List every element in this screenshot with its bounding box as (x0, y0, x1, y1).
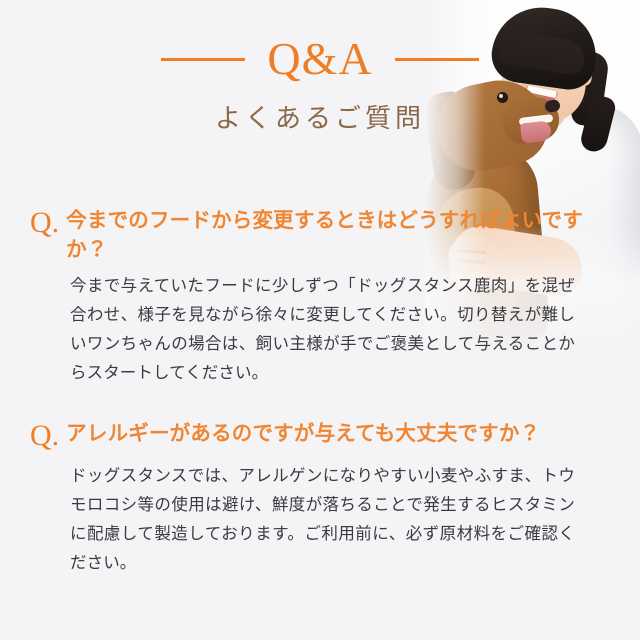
title-row: Q&A (0, 36, 640, 82)
page-title: Q&A (267, 36, 372, 82)
rule-right-icon (395, 58, 479, 61)
faq-item: Q. 今までのフードから変更するときはどうすればよいですか？ 今まで与えていたフ… (0, 206, 640, 387)
question-marker-icon: Q. (30, 206, 59, 241)
answer-text: ドッグスタンスでは、アレルゲンになりやすい小麦やふすま、トウモロコシ等の使用は避… (30, 461, 575, 577)
rule-left-icon (161, 58, 245, 61)
faq-question: Q. 今までのフードから変更するときはどうすればよいですか？ (30, 206, 612, 264)
answer-text: 今まで与えていたフードに少しずつ「ドッグスタンス鹿肉」を混ぜ合わせ、様子を見なが… (30, 271, 575, 387)
faq-item: Q. アレルギーがあるのですが与えても大丈夫ですか？ ドッグスタンスでは、アレル… (0, 419, 640, 577)
page-header: Q&A よくあるご質問 (0, 36, 640, 135)
question-text: アレルギーがあるのですが与えても大丈夫ですか？ (66, 419, 540, 448)
faq-list: Q. 今までのフードから変更するときはどうすればよいですか？ 今まで与えていたフ… (0, 206, 640, 577)
faq-question: Q. アレルギーがあるのですが与えても大丈夫ですか？ (30, 419, 612, 454)
question-marker-icon: Q. (30, 419, 59, 454)
question-text: 今までのフードから変更するときはどうすればよいですか？ (66, 206, 612, 264)
qa-page: Q&A よくあるご質問 Q. 今までのフードから変更するときはどうすればよいです… (0, 0, 640, 640)
page-subtitle: よくあるご質問 (0, 98, 640, 135)
